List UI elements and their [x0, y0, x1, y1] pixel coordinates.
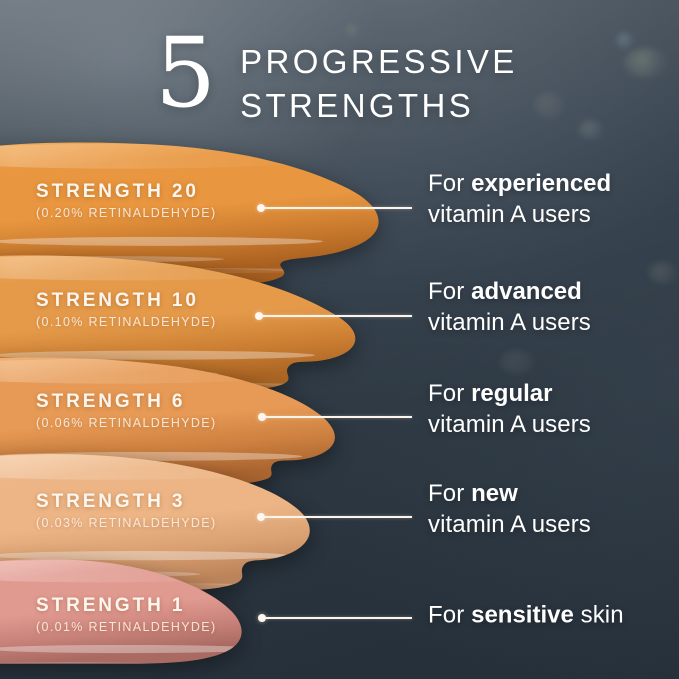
description-emphasis: regular	[471, 380, 552, 407]
description-strength-10: For advancedvitamin A users	[428, 276, 591, 338]
label-strength-10: STRENGTH 10(0.10% RETINALDEHYDE)	[36, 289, 216, 331]
description-suffix: skin	[581, 602, 624, 629]
connector-line	[265, 617, 412, 619]
strength-title: STRENGTH 1	[36, 594, 216, 617]
description-emphasis: sensitive	[471, 602, 574, 629]
description-strength-1: For sensitive skin	[428, 600, 624, 631]
bokeh-mid-icon	[578, 120, 604, 140]
connector-strength-10	[255, 311, 412, 321]
description-strength-20: For experiencedvitamin A users	[428, 168, 611, 230]
strength-concentration: (0.03% RETINALDEHYDE)	[36, 514, 216, 532]
label-strength-1: STRENGTH 1(0.01% RETINALDEHYDE)	[36, 594, 216, 636]
description-line-1: For experienced	[428, 168, 611, 199]
description-prefix: For	[428, 480, 464, 507]
bokeh-soft-icon	[534, 92, 564, 118]
description-prefix: For	[428, 278, 464, 305]
label-strength-6: STRENGTH 6(0.06% RETINALDEHYDE)	[36, 390, 216, 432]
description-prefix: For	[428, 602, 464, 629]
strength-concentration: (0.10% RETINALDEHYDE)	[36, 313, 216, 331]
connector-line	[264, 207, 412, 209]
headline-line-1: PROGRESSIVE	[240, 40, 518, 84]
strength-concentration: (0.20% RETINALDEHYDE)	[36, 204, 216, 222]
headline-text: PROGRESSIVE STRENGTHS	[240, 40, 518, 128]
strength-title: STRENGTH 6	[36, 390, 216, 413]
description-strength-3: For newvitamin A users	[428, 478, 591, 540]
connector-strength-6	[258, 412, 412, 422]
description-line-1: For new	[428, 478, 591, 509]
strength-title: STRENGTH 10	[36, 289, 216, 312]
description-line-1: For regular	[428, 378, 591, 409]
description-line-1: For advanced	[428, 276, 591, 307]
description-prefix: For	[428, 380, 464, 407]
bokeh-rainbow-large-icon	[624, 48, 668, 78]
strength-title: STRENGTH 20	[36, 180, 216, 203]
connector-line	[262, 315, 412, 317]
description-line-1: For sensitive skin	[428, 600, 624, 631]
description-line-2: vitamin A users	[428, 307, 591, 338]
bokeh-teal-icon	[616, 32, 634, 50]
connector-strength-20	[257, 203, 412, 213]
strength-title: STRENGTH 3	[36, 490, 216, 513]
headline-line-2: STRENGTHS	[240, 84, 518, 128]
description-emphasis: advanced	[471, 278, 582, 305]
connector-strength-1	[258, 613, 412, 623]
description-strength-6: For regularvitamin A users	[428, 378, 591, 440]
headline-number: 5	[155, 30, 216, 116]
description-line-2: vitamin A users	[428, 199, 611, 230]
label-strength-3: STRENGTH 3(0.03% RETINALDEHYDE)	[36, 490, 216, 532]
infographic-canvas: 5 PROGRESSIVE STRENGTHS STRENGTH 20(0.20…	[0, 0, 679, 679]
description-emphasis: new	[471, 480, 518, 507]
description-prefix: For	[428, 170, 464, 197]
label-strength-20: STRENGTH 20(0.20% RETINALDEHYDE)	[36, 180, 216, 222]
page-title: 5 PROGRESSIVE STRENGTHS	[155, 28, 518, 128]
bokeh-lower-icon	[648, 262, 678, 284]
connector-strength-3	[257, 512, 412, 522]
description-line-2: vitamin A users	[428, 509, 591, 540]
connector-line	[265, 416, 412, 418]
description-line-2: vitamin A users	[428, 409, 591, 440]
description-emphasis: experienced	[471, 170, 611, 197]
strength-concentration: (0.01% RETINALDEHYDE)	[36, 618, 216, 636]
bokeh-faint-icon	[500, 350, 534, 374]
connector-line	[264, 516, 412, 518]
strength-concentration: (0.06% RETINALDEHYDE)	[36, 414, 216, 432]
